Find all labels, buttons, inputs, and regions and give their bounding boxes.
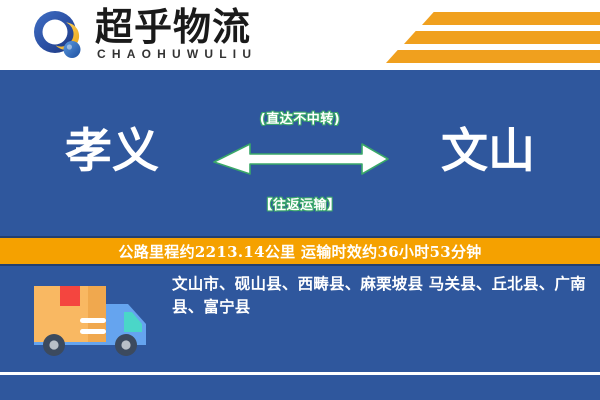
delivery-truck-icon xyxy=(28,274,158,360)
direct-route-badge: (直达不中转) xyxy=(200,108,400,127)
distance-duration-bar: 公路里程约2213.14公里 运输时效约36小时53分钟 xyxy=(0,236,600,266)
circle-q-logo-icon xyxy=(33,10,85,62)
stripe-bottom xyxy=(386,50,600,63)
round-trip-badge: 【往返运输】 xyxy=(200,194,400,213)
coverage-areas-text: 文山市、砚山县、西畴县、麻栗坡县 马关县、丘北县、广南县、富宁县 xyxy=(172,272,588,318)
distance-duration-text: 公路里程约2213.14公里 运输时效约36小时53分钟 xyxy=(118,241,481,262)
brand-name-en: CHAOHUWULIU xyxy=(97,47,257,61)
coverage-area: 文山市、砚山县、西畴县、麻栗坡县 马关县、丘北县、广南县、富宁县 xyxy=(0,266,600,370)
origin-city: 孝义 xyxy=(12,122,212,182)
route-area: 孝义 (直达不中转) 【往返运输】 文山 xyxy=(0,70,600,236)
route-arrow-block: (直达不中转) 【往返运输】 xyxy=(200,108,400,218)
logistics-route-poster: 超乎物流 CHAOHUWULIU 孝义 (直达不中转) 【往返运输】 xyxy=(0,0,600,400)
orange-stripes-icon xyxy=(300,6,600,64)
bidirectional-arrow-icon xyxy=(210,136,390,184)
stripe-top xyxy=(422,12,600,25)
brand-name-cn: 超乎物流 xyxy=(95,7,251,47)
stripe-middle xyxy=(404,31,600,44)
destination-city: 文山 xyxy=(388,122,588,182)
bottom-fill xyxy=(0,375,600,400)
main-blue-panel: 孝义 (直达不中转) 【往返运输】 文山 公路里程约2213.14公里 运输时效… xyxy=(0,70,600,400)
header: 超乎物流 CHAOHUWULIU xyxy=(0,0,600,70)
